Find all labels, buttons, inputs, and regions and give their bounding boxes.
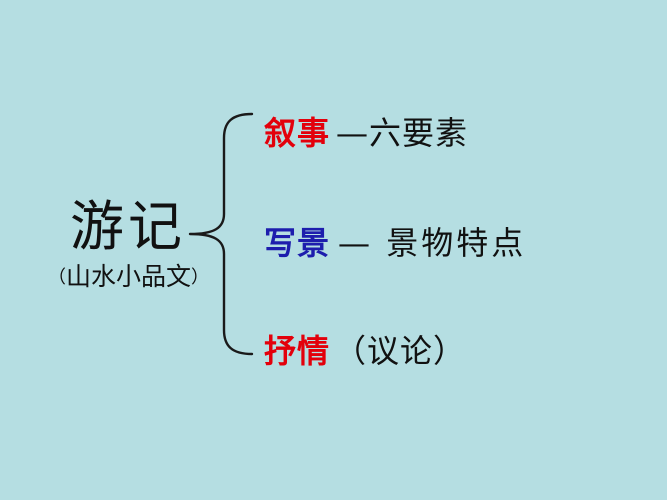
subtitle-open-paren: （: [48, 267, 66, 288]
topic-subtitle: （山水小品文）: [48, 260, 208, 295]
topic-block: 游记 （山水小品文）: [48, 196, 208, 295]
branch-value: — 景物特点: [338, 224, 526, 262]
subtitle-text: 山水小品文: [66, 262, 191, 291]
branch-key: 写景: [264, 224, 330, 262]
page-title: 游记: [48, 196, 208, 258]
branch-item: 抒情（议论）: [264, 330, 466, 372]
branch-key: 抒情: [264, 332, 330, 370]
branch-item: 写景— 景物特点: [264, 222, 526, 264]
branch-value: —六要素: [336, 114, 468, 152]
branch-value: （议论）: [334, 332, 466, 370]
left-curly-brace-icon: [186, 108, 262, 360]
branch-key: 叙事: [264, 114, 330, 152]
slide-canvas: 游记 （山水小品文） 叙事—六要素 写景— 景物特点 抒情（议论）: [0, 0, 667, 500]
branch-item: 叙事—六要素: [264, 112, 468, 154]
